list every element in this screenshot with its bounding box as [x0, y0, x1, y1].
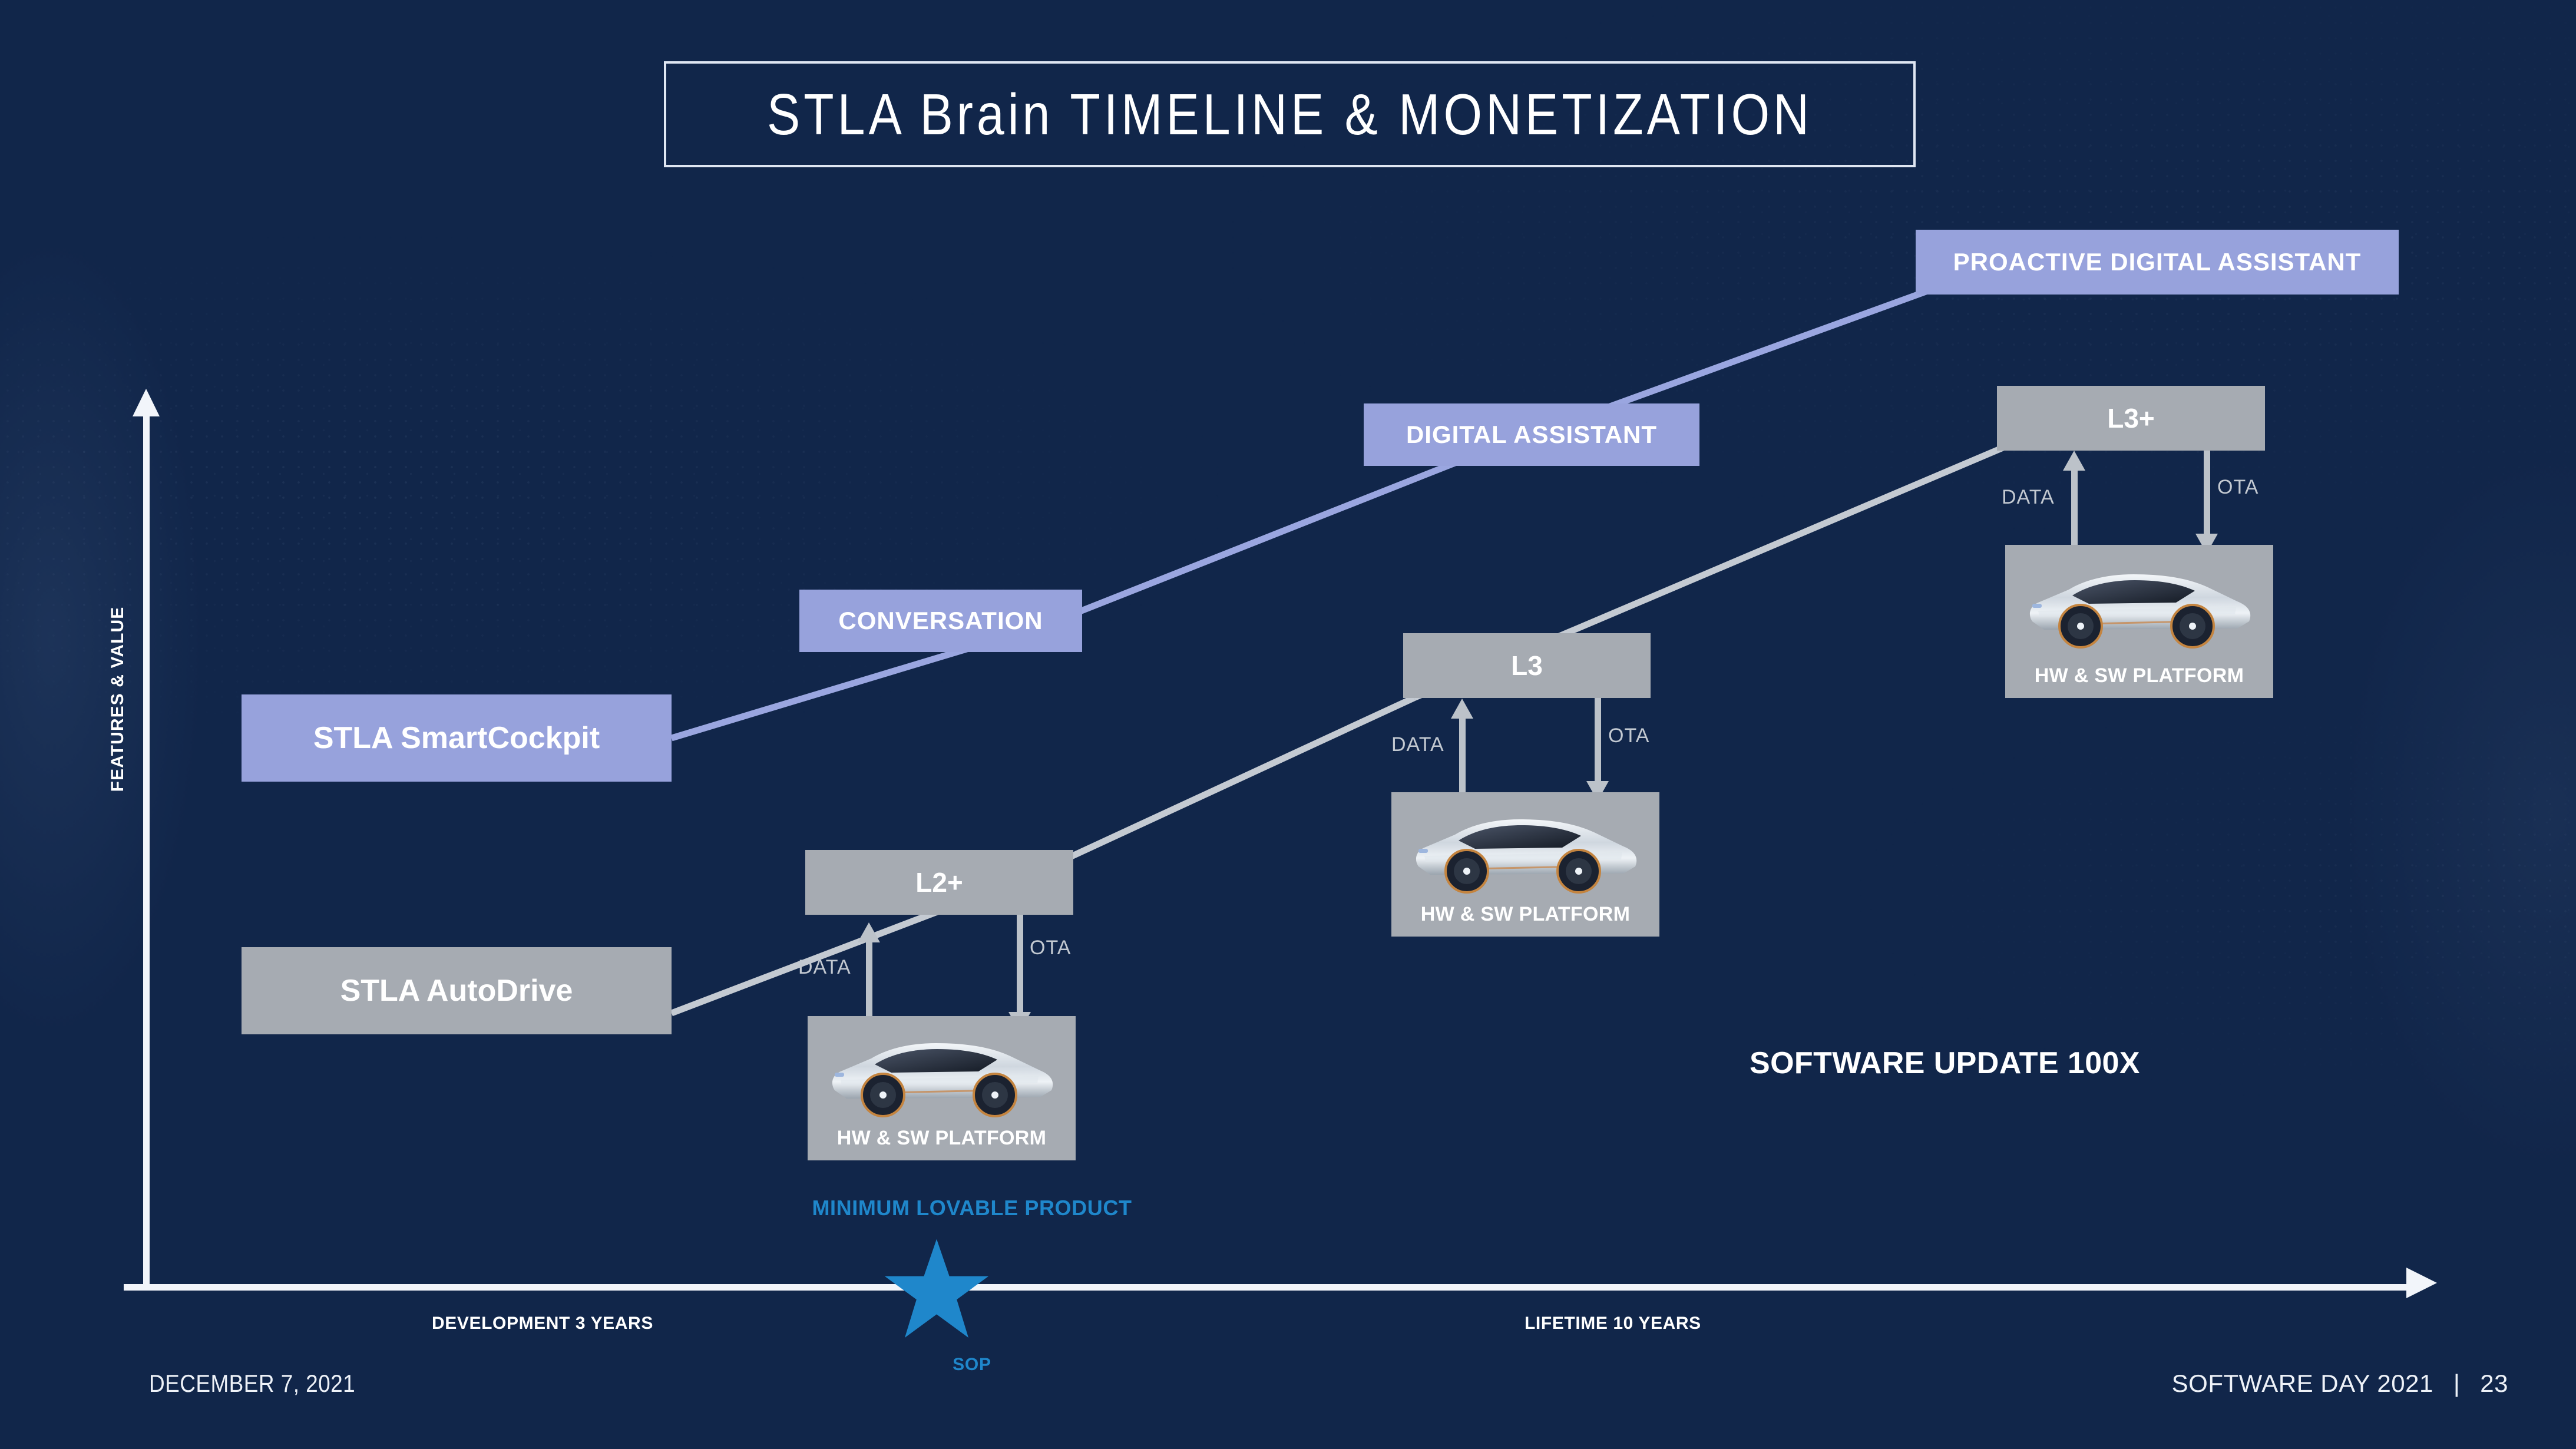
footer-meta: SOFTWARE DAY 2021 | 23: [2172, 1369, 2508, 1398]
data-arrow-head-l2plus-icon: [858, 922, 880, 942]
cockpit-origin-label: STLA SmartCockpit: [313, 720, 600, 756]
footer-separator: |: [2453, 1369, 2460, 1398]
data-arrow-head-l3plus-icon: [2063, 451, 2085, 471]
autodrive-stage-label: L3+: [2107, 402, 2155, 434]
car-illustration: [821, 1029, 1063, 1123]
ota-arrow-label-l2plus: OTA: [1030, 937, 1071, 960]
cockpit-stage-digital-assistant[interactable]: DIGITAL ASSISTANT: [1364, 403, 1699, 466]
autodrive-stage-l3plus-box[interactable]: L3+: [1997, 386, 2265, 451]
cockpit-stage-label: CONVERSATION: [838, 607, 1043, 635]
footer-page: 23: [2480, 1369, 2508, 1398]
ota-arrow-shaft-l3plus: [2204, 451, 2210, 537]
autodrive-stage-l3-box[interactable]: L3: [1403, 633, 1651, 698]
ota-arrow-shaft-l2plus: [1017, 915, 1023, 1015]
car-illustration: [1404, 805, 1647, 899]
axis-caption-development: DEVELOPMENT 3 YEARS: [432, 1314, 653, 1334]
cockpit-stage-label: DIGITAL ASSISTANT: [1406, 421, 1657, 449]
autodrive-stage-l2plus-box[interactable]: L2+: [805, 850, 1073, 915]
cockpit-stage-conversation[interactable]: CONVERSATION: [799, 590, 1082, 652]
autodrive-stage-label: L2+: [915, 866, 963, 898]
platform-panel-l3[interactable]: HW & SW PLATFORM: [1391, 792, 1659, 937]
platform-caption: HW & SW PLATFORM: [1391, 903, 1659, 926]
footer-date: DECEMBER 7, 2021: [149, 1369, 355, 1398]
autodrive-stage-label: L3: [1511, 650, 1543, 682]
ota-arrow-shaft-l3: [1595, 698, 1601, 784]
platform-panel-l3plus[interactable]: HW & SW PLATFORM: [2005, 545, 2273, 698]
cockpit-stage-proactive-digital-assistant[interactable]: PROACTIVE DIGITAL ASSISTANT: [1916, 230, 2399, 295]
milestone-label: MINIMUM LOVABLE PRODUCT: [648, 1196, 1296, 1220]
car-illustration: [2018, 560, 2261, 654]
platform-panel-l2plus[interactable]: HW & SW PLATFORM: [808, 1016, 1076, 1160]
data-arrow-label-l3: DATA: [1391, 733, 1444, 756]
axis-caption-lifetime: LIFETIME 10 YEARS: [1525, 1314, 1701, 1334]
ota-arrow-label-l3: OTA: [1608, 724, 1649, 747]
software-update-highlight: SOFTWARE UPDATE 100X: [1750, 1046, 2140, 1081]
sop-star-icon: [884, 1237, 990, 1343]
data-arrow-head-l3-icon: [1451, 699, 1473, 719]
data-arrow-label-l2plus: DATA: [798, 956, 851, 979]
cockpit-origin-box[interactable]: STLA SmartCockpit: [242, 694, 672, 782]
ota-arrow-label-l3plus: OTA: [2217, 476, 2258, 499]
autodrive-origin-label: STLA AutoDrive: [340, 973, 573, 1008]
cockpit-stage-label: PROACTIVE DIGITAL ASSISTANT: [1953, 248, 2362, 276]
autodrive-origin-box[interactable]: STLA AutoDrive: [242, 947, 672, 1034]
data-arrow-shaft-l3plus: [2071, 465, 2078, 555]
sop-label: SOP: [825, 1355, 1119, 1375]
data-arrow-shaft-l3: [1459, 712, 1466, 798]
footer-event: SOFTWARE DAY 2021: [2172, 1369, 2433, 1398]
platform-caption: HW & SW PLATFORM: [808, 1127, 1076, 1150]
data-arrow-label-l3plus: DATA: [2002, 486, 2055, 509]
platform-caption: HW & SW PLATFORM: [2005, 664, 2273, 687]
